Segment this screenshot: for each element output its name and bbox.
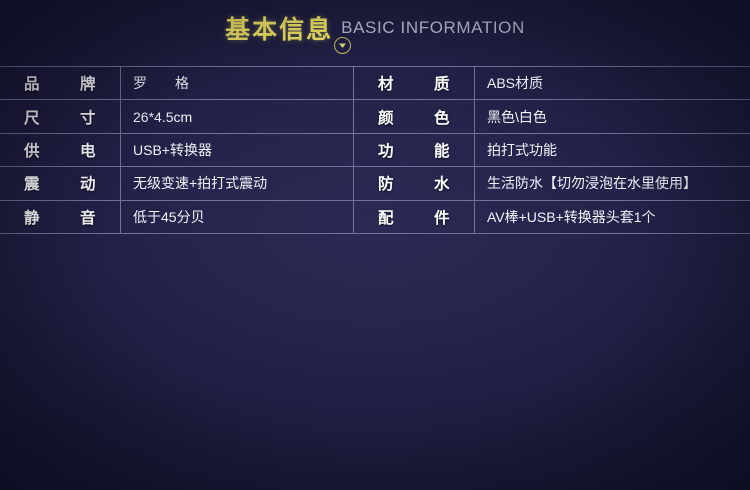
chevron-down-icon bbox=[334, 37, 351, 54]
spec-value-vibration: 无级变速+拍打式震动 bbox=[121, 167, 354, 200]
specification-table: 品牌 罗 格 材质 ABS材质 尺寸 26*4.5cm 颜色 黑色\白色 供电 … bbox=[0, 66, 750, 234]
spec-value-quiet: 低于45分贝 bbox=[121, 200, 354, 233]
spec-value-material: ABS材质 bbox=[475, 67, 750, 100]
spec-label-color: 颜色 bbox=[354, 100, 475, 133]
table-row: 尺寸 26*4.5cm 颜色 黑色\白色 bbox=[0, 100, 750, 133]
table-row: 品牌 罗 格 材质 ABS材质 bbox=[0, 67, 750, 100]
spec-label-quiet: 静音 bbox=[0, 200, 121, 233]
spec-label-power: 供电 bbox=[0, 133, 121, 166]
table-row: 静音 低于45分贝 配件 AV棒+USB+转换器头套1个 bbox=[0, 200, 750, 233]
spec-label-waterproof: 防水 bbox=[354, 167, 475, 200]
spec-label-size: 尺寸 bbox=[0, 100, 121, 133]
spec-value-accessories: AV棒+USB+转换器头套1个 bbox=[475, 200, 750, 233]
product-info-banner: 基本信息BASIC INFORMATION 品牌 罗 格 材质 ABS材质 尺寸… bbox=[0, 0, 750, 490]
spec-value-function: 拍打式功能 bbox=[475, 133, 750, 166]
spec-value-brand: 罗 格 bbox=[121, 67, 354, 100]
page-title-en: BASIC INFORMATION bbox=[341, 18, 525, 37]
spec-label-vibration: 震动 bbox=[0, 167, 121, 200]
spec-value-color: 黑色\白色 bbox=[475, 100, 750, 133]
table-row: 供电 USB+转换器 功能 拍打式功能 bbox=[0, 133, 750, 166]
spec-value-size: 26*4.5cm bbox=[121, 100, 354, 133]
section-header: 基本信息BASIC INFORMATION bbox=[0, 10, 750, 46]
spec-label-function: 功能 bbox=[354, 133, 475, 166]
spec-value-power: USB+转换器 bbox=[121, 133, 354, 166]
spec-label-brand: 品牌 bbox=[0, 67, 121, 100]
table-row: 震动 无级变速+拍打式震动 防水 生活防水【切勿浸泡在水里使用】 bbox=[0, 167, 750, 200]
product-photo-area: 26cm 4.5cm bbox=[0, 246, 750, 490]
spec-label-material: 材质 bbox=[354, 67, 475, 100]
page-title-cn: 基本信息 bbox=[225, 16, 333, 44]
spec-value-waterproof: 生活防水【切勿浸泡在水里使用】 bbox=[475, 167, 750, 200]
spec-label-accessories: 配件 bbox=[354, 200, 475, 233]
